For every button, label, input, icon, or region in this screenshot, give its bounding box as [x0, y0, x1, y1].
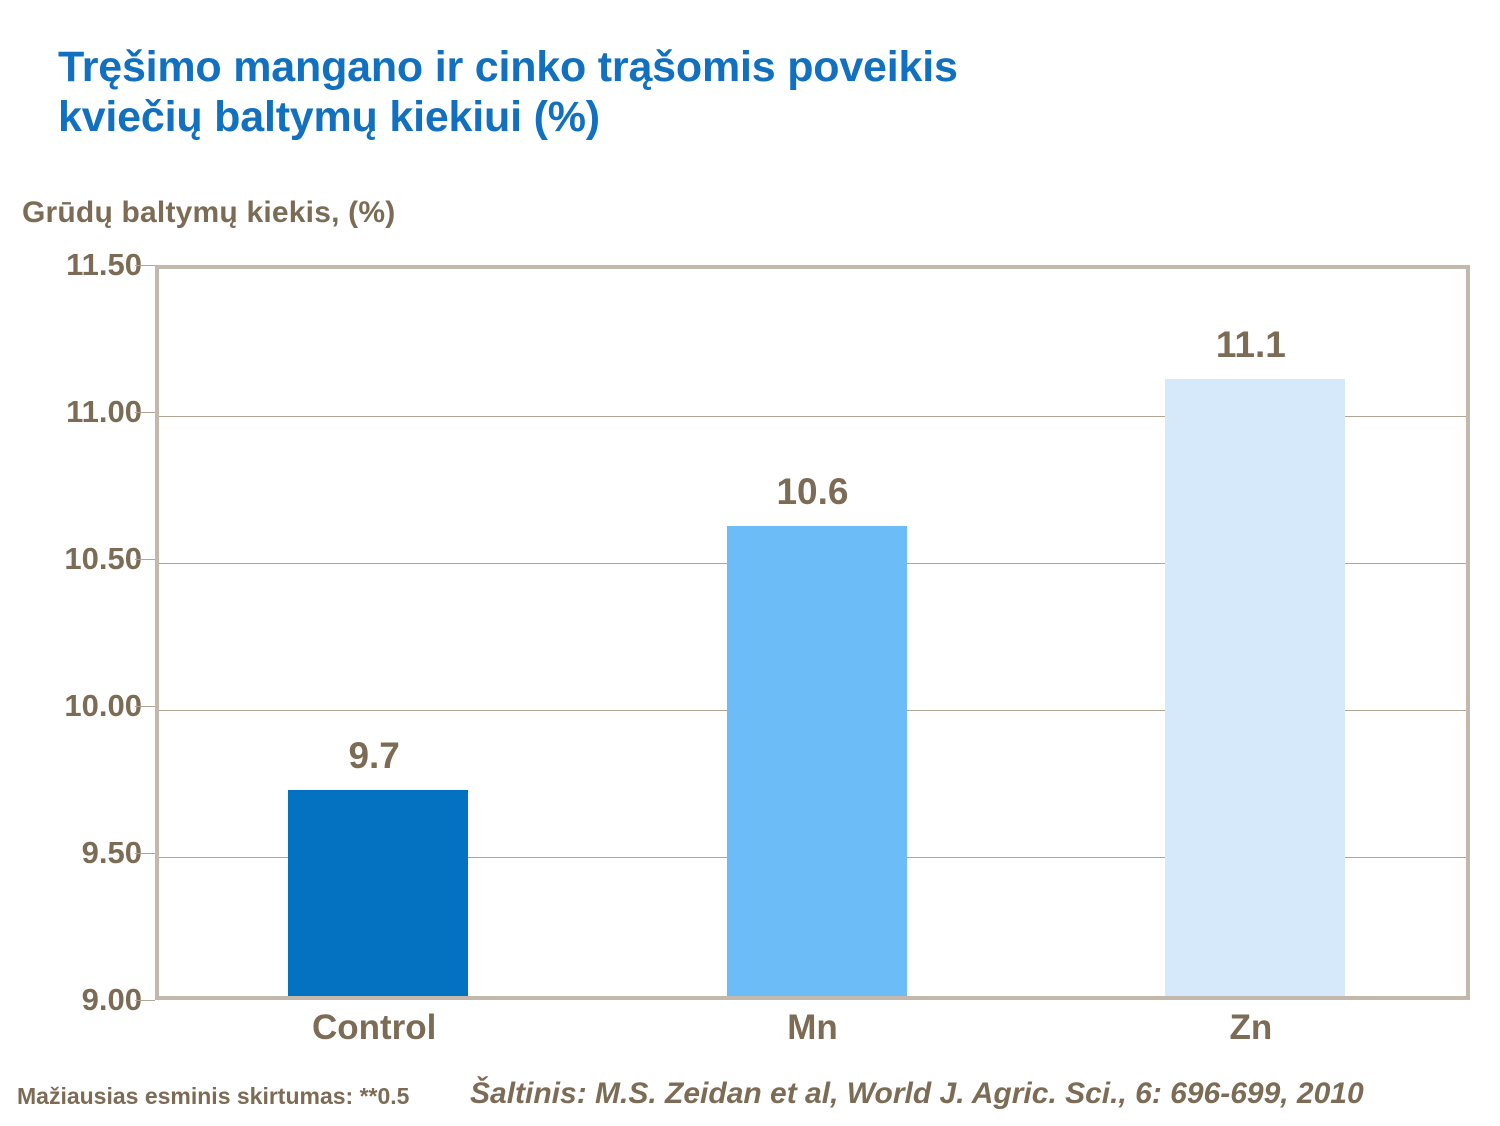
y-axis-tick-mark: [135, 706, 155, 707]
y-axis-tick-mark: [135, 1000, 155, 1001]
bar-control[interactable]: [288, 790, 468, 996]
y-axis-tick-label: 9.50: [0, 835, 142, 871]
y-axis-tick-mark: [135, 853, 155, 854]
y-axis-tick-label: 10.00: [0, 688, 142, 724]
y-axis-tick-mark: [135, 265, 155, 266]
x-axis-label-mn: Mn: [653, 1008, 973, 1048]
footnote-source: Šaltinis: M.S. Zeidan et al, World J. Ag…: [470, 1077, 1364, 1111]
footnote-lsd: Mažiausias esminis skirtumas: **0.5: [17, 1083, 409, 1110]
page-title: Tręšimo mangano ir cinko trąšomis poveik…: [58, 42, 1258, 143]
bar-value-label: 10.6: [693, 471, 933, 513]
y-axis-title: Grūdų baltymų kiekis, (%): [22, 196, 395, 230]
y-axis-tick-label: 9.00: [0, 982, 142, 1018]
x-axis-label-zn: Zn: [1091, 1008, 1411, 1048]
plot-area: [155, 265, 1470, 1000]
x-axis-label-control: Control: [214, 1008, 534, 1048]
y-axis-tick-mark: [135, 559, 155, 560]
y-axis-tick-label: 10.50: [0, 541, 142, 577]
bar-mn[interactable]: [727, 526, 907, 996]
bar-value-label: 11.1: [1131, 324, 1371, 366]
y-axis-tick-label: 11.50: [0, 247, 142, 283]
y-axis-tick-mark: [135, 412, 155, 413]
bar-zn[interactable]: [1165, 379, 1345, 996]
bar-value-label: 9.7: [254, 735, 494, 777]
y-axis-tick-label: 11.00: [0, 394, 142, 430]
